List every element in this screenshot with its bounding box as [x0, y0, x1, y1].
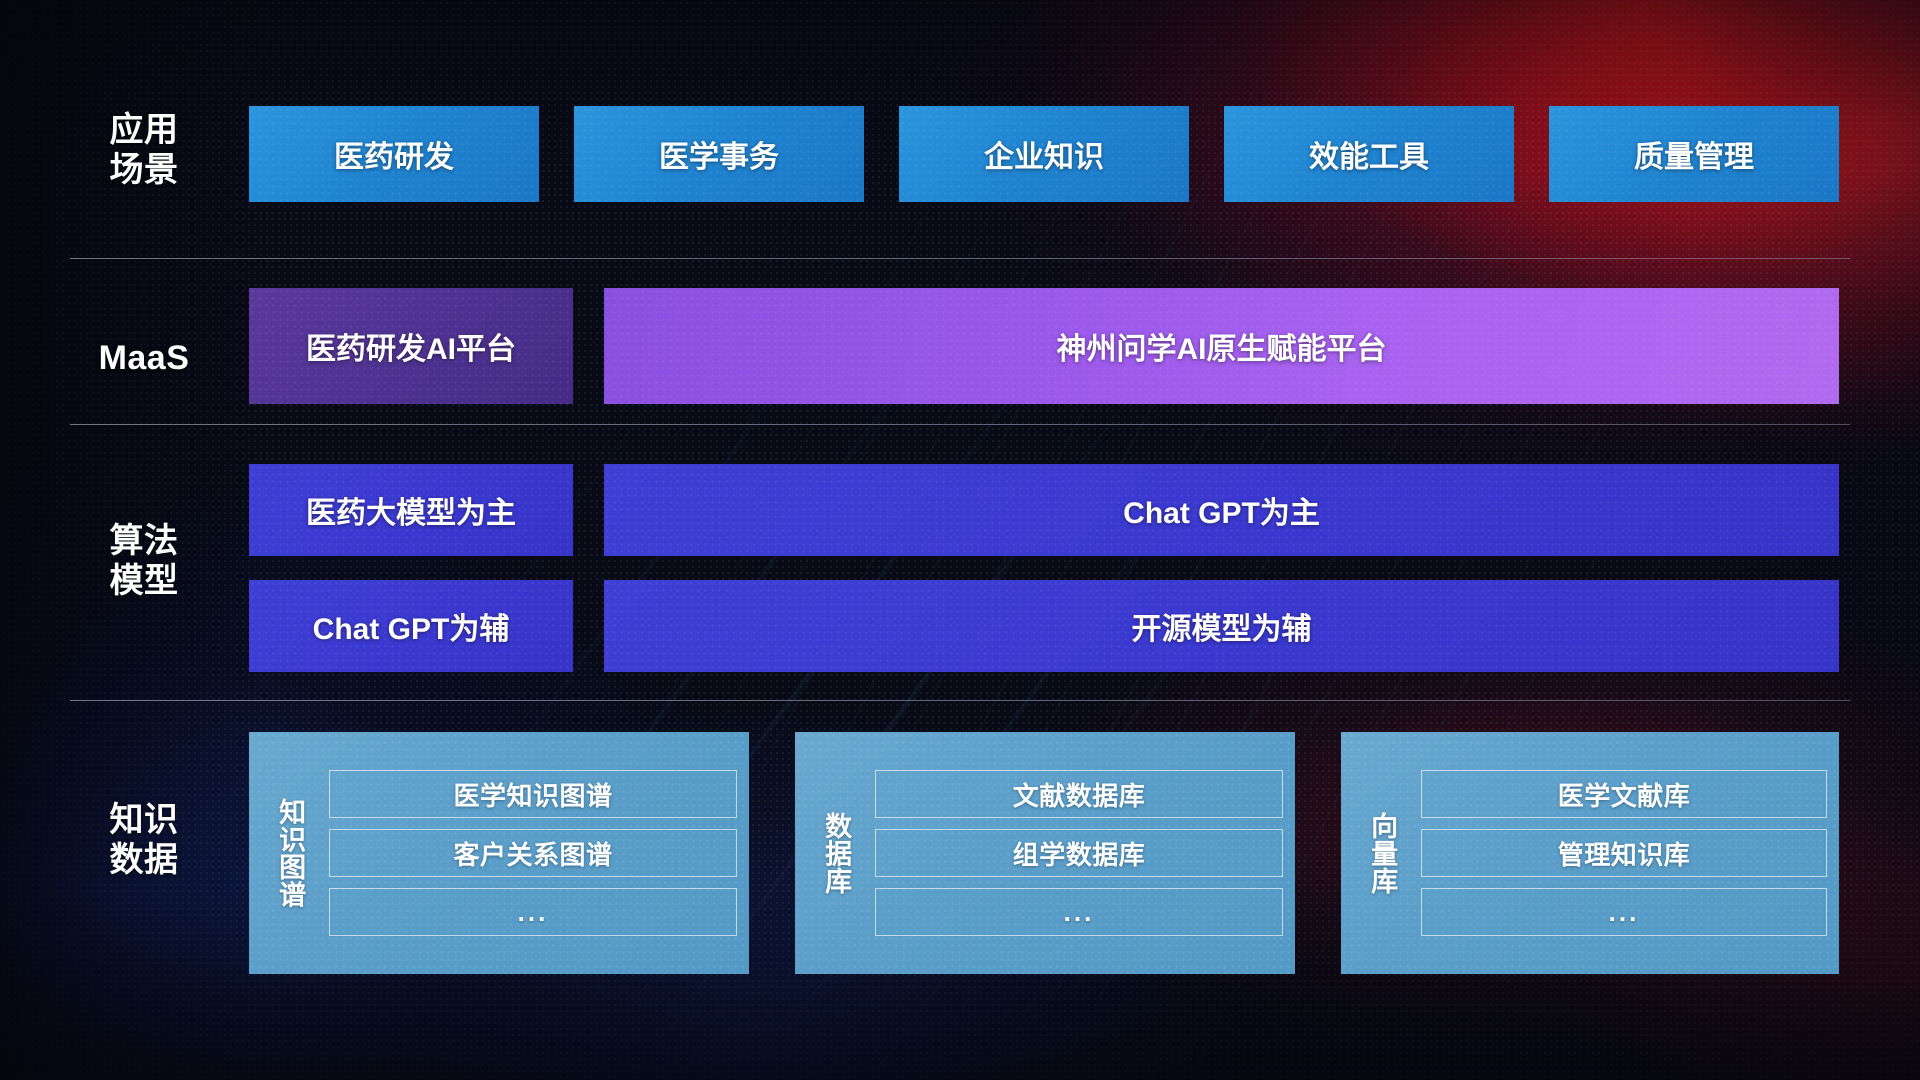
row-label-application: 应用 场景	[78, 110, 210, 190]
app-card-label: 质量管理	[1634, 132, 1754, 176]
knowledge-card-items: 医学知识图谱 客户关系图谱 ...	[321, 742, 737, 964]
row-label-maas-text: MaaS	[78, 338, 210, 378]
knowledge-card-vector-store[interactable]: 向量库 医学文献库 管理知识库 ...	[1341, 732, 1839, 974]
algo-card-label: Chat GPT为辅	[313, 604, 510, 648]
app-card-medical-affairs[interactable]: 医学事务	[574, 106, 864, 202]
divider-application-maas	[70, 258, 1850, 259]
algo-card-opensource-secondary[interactable]: 开源模型为辅	[604, 580, 1839, 672]
algo-card-chatgpt-primary[interactable]: Chat GPT为主	[604, 464, 1839, 556]
row-label-algorithm-line1: 算法	[78, 521, 210, 561]
algo-card-label: 开源模型为辅	[1132, 604, 1312, 648]
knowledge-item-more[interactable]: ...	[329, 888, 737, 936]
app-card-label: 效能工具	[1309, 132, 1429, 176]
maas-card-label: 神州问学AI原生赋能平台	[1057, 324, 1387, 368]
app-card-label: 医药研发	[334, 132, 454, 176]
maas-card-medicine-ai-platform[interactable]: 医药研发AI平台	[249, 288, 573, 404]
row-label-knowledge-line1: 知识	[78, 800, 210, 840]
app-card-efficiency-tools[interactable]: 效能工具	[1224, 106, 1514, 202]
algo-card-label: Chat GPT为主	[1123, 488, 1320, 532]
maas-card-label: 医药研发AI平台	[306, 324, 516, 368]
app-card-label: 医学事务	[659, 132, 779, 176]
app-card-quality-management[interactable]: 质量管理	[1549, 106, 1839, 202]
knowledge-item[interactable]: 管理知识库	[1421, 829, 1827, 877]
knowledge-card-title: 向量库	[1351, 742, 1413, 964]
knowledge-item[interactable]: 组学数据库	[875, 829, 1283, 877]
row-label-application-line1: 应用	[78, 110, 210, 150]
row-label-application-line2: 场景	[78, 150, 210, 190]
app-card-enterprise-knowledge[interactable]: 企业知识	[899, 106, 1189, 202]
knowledge-card-items: 文献数据库 组学数据库 ...	[867, 742, 1283, 964]
divider-maas-algorithm	[70, 424, 1850, 425]
algo-card-medicine-llm-primary[interactable]: 医药大模型为主	[249, 464, 573, 556]
row-label-maas: MaaS	[78, 338, 210, 378]
knowledge-item[interactable]: 客户关系图谱	[329, 829, 737, 877]
knowledge-card-items: 医学文献库 管理知识库 ...	[1413, 742, 1827, 964]
knowledge-card-knowledge-graph[interactable]: 知识图谱 医学知识图谱 客户关系图谱 ...	[249, 732, 749, 974]
row-label-algorithm-line2: 模型	[78, 561, 210, 601]
knowledge-item-more[interactable]: ...	[875, 888, 1283, 936]
row-label-algorithm: 算法 模型	[78, 521, 210, 601]
algo-card-label: 医药大模型为主	[306, 488, 516, 532]
row-label-knowledge: 知识 数据	[78, 800, 210, 880]
app-card-medicine-rnd[interactable]: 医药研发	[249, 106, 539, 202]
knowledge-item[interactable]: 医学文献库	[1421, 770, 1827, 818]
knowledge-item[interactable]: 医学知识图谱	[329, 770, 737, 818]
knowledge-card-title: 知识图谱	[259, 742, 321, 964]
row-label-knowledge-line2: 数据	[78, 840, 210, 880]
divider-algorithm-knowledge	[70, 700, 1850, 701]
app-card-label: 企业知识	[984, 132, 1104, 176]
knowledge-card-database[interactable]: 数据库 文献数据库 组学数据库 ...	[795, 732, 1295, 974]
knowledge-item-more[interactable]: ...	[1421, 888, 1827, 936]
algo-card-chatgpt-secondary[interactable]: Chat GPT为辅	[249, 580, 573, 672]
architecture-diagram: 应用 场景 医药研发 医学事务 企业知识 效能工具 质量管理 MaaS	[0, 0, 1920, 1080]
knowledge-card-title: 数据库	[805, 742, 867, 964]
maas-card-shenzhou-wenxue-platform[interactable]: 神州问学AI原生赋能平台	[604, 288, 1839, 404]
knowledge-item[interactable]: 文献数据库	[875, 770, 1283, 818]
